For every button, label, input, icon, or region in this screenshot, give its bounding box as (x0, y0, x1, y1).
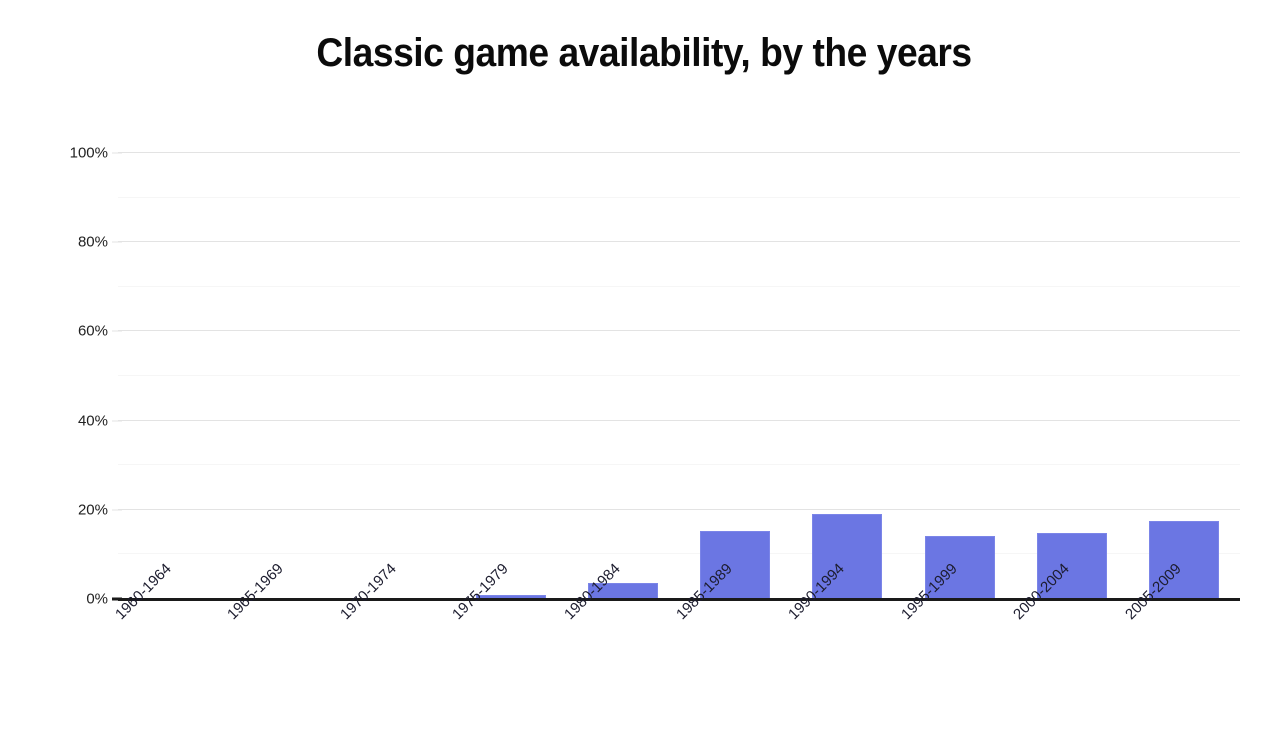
bar-chart: Classic game availability, by the years … (0, 0, 1288, 754)
bar-band (679, 153, 791, 599)
bar-band (455, 153, 567, 599)
y-axis-tick-label: 100% (36, 145, 108, 162)
y-axis-tick-label: 80% (36, 234, 108, 251)
x-axis-band: 2005-2009 (1128, 603, 1240, 743)
plot-area (118, 153, 1240, 599)
y-axis-tick-mark (112, 331, 122, 332)
x-axis-band: 1985-1989 (679, 603, 791, 743)
bar-band (118, 153, 230, 599)
y-axis-tick-mark (112, 153, 122, 154)
x-axis-band: 1980-1984 (567, 603, 679, 743)
bar-band (342, 153, 454, 599)
x-axis-line (118, 598, 1240, 601)
y-axis-tick-mark (112, 598, 122, 601)
y-axis-tick-label: 40% (36, 412, 108, 429)
bar-band (1016, 153, 1128, 599)
x-axis-band: 1995-1999 (903, 603, 1015, 743)
chart-title: Classic game availability, by the years (45, 30, 1243, 76)
x-axis-band: 1960-1964 (118, 603, 230, 743)
y-axis-tick-label: 20% (36, 501, 108, 518)
y-axis-tick-mark (112, 242, 122, 243)
x-axis-band: 1965-1969 (230, 603, 342, 743)
x-axis-band: 2000-2004 (1016, 603, 1128, 743)
bar-band (567, 153, 679, 599)
x-axis-band: 1970-1974 (342, 603, 454, 743)
y-axis-tick-label: 60% (36, 323, 108, 340)
bar-series (118, 153, 1240, 599)
x-axis-tick-labels: 1960-19641965-19691970-19741975-19791980… (118, 603, 1240, 743)
bar-band (1128, 153, 1240, 599)
y-axis-tick-mark (112, 509, 122, 510)
x-axis-band: 1990-1994 (791, 603, 903, 743)
bar-band (791, 153, 903, 599)
y-axis-tick-label: 0% (36, 591, 108, 608)
y-axis-tick-mark (112, 420, 122, 421)
bar-band (230, 153, 342, 599)
bar-band (903, 153, 1015, 599)
x-axis-band: 1975-1979 (455, 603, 567, 743)
